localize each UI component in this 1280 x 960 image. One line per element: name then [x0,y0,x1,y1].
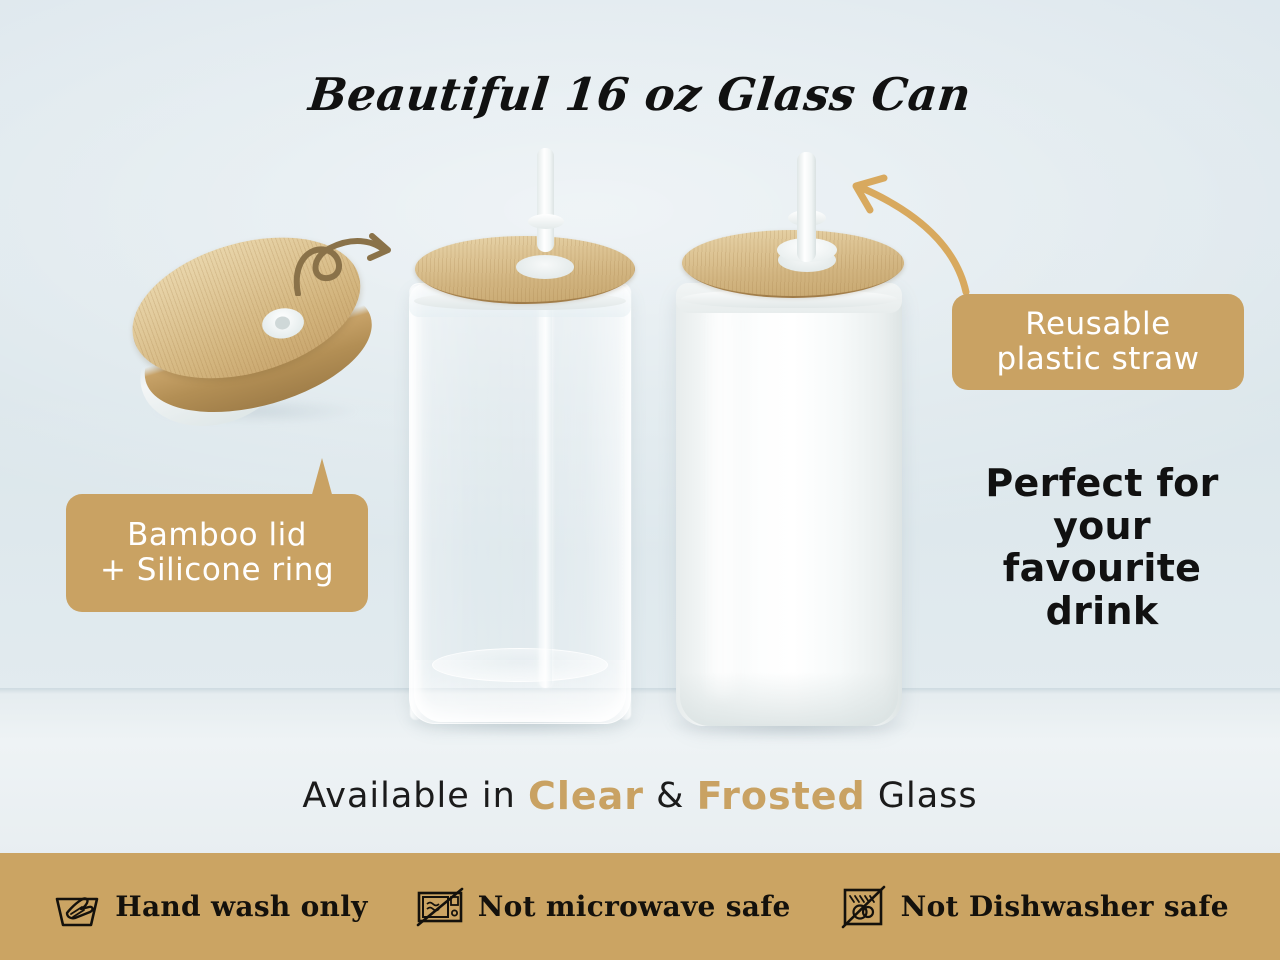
no-microwave-icon [414,883,466,931]
care-instructions-bar: Hand wash only Not microwave safe Not D [0,853,1280,960]
clear-can-inner-base [432,648,608,682]
available-option-frosted: Frosted [697,774,866,818]
available-option-clear: Clear [528,774,644,818]
callout-straw-line1: Reusable [1025,307,1170,342]
callout-lid-line2: + Silicone ring [100,553,334,588]
care-label-hand-wash: Hand wash only [115,890,368,923]
callout-lid-pointer [311,458,333,498]
clear-can-left-edge [410,286,422,720]
hand-wash-icon [51,883,103,931]
callout-lid-line1: Bamboo lid [127,518,307,553]
available-finishes-line: Available in Clear & Frosted Glass [0,774,1280,818]
clear-can-straw [539,300,552,688]
callout-bamboo-lid: Bamboo lid + Silicone ring [66,494,368,612]
perfect-line1: Perfect for [952,462,1252,505]
perfect-for-text: Perfect for your favourite drink [952,462,1252,632]
care-item-hand-wash: Hand wash only [51,883,368,931]
care-label-no-dishwasher: Not Dishwasher safe [901,890,1229,923]
callout-straw-line2: plastic straw [996,342,1199,377]
clear-can-straw-top [537,148,554,252]
available-suffix: Glass [878,776,978,816]
page-title: Beautiful 16 oz Glass Can [0,68,1280,121]
infographic-canvas: Beautiful 16 oz Glass Can Reus [0,0,1280,960]
care-item-no-microwave: Not microwave safe [414,883,791,931]
available-conjunction: & [656,776,684,816]
care-item-no-dishwasher: Not Dishwasher safe [837,883,1229,931]
no-dishwasher-icon [837,883,889,931]
clear-can-right-edge [619,286,631,720]
perfect-line2: your favourite [952,505,1252,590]
frosted-can-highlight [700,300,746,700]
perfect-line3: drink [952,590,1252,633]
callout-reusable-straw: Reusable plastic straw [952,294,1244,390]
frosted-can-bottom [680,672,898,726]
clear-can-straw-collar [528,214,564,229]
care-label-no-microwave: Not microwave safe [478,890,791,923]
available-prefix: Available in [302,776,515,816]
table-edge-line [0,688,1280,694]
clear-can-lid-hole [516,255,574,279]
frosted-can-straw [797,152,816,262]
